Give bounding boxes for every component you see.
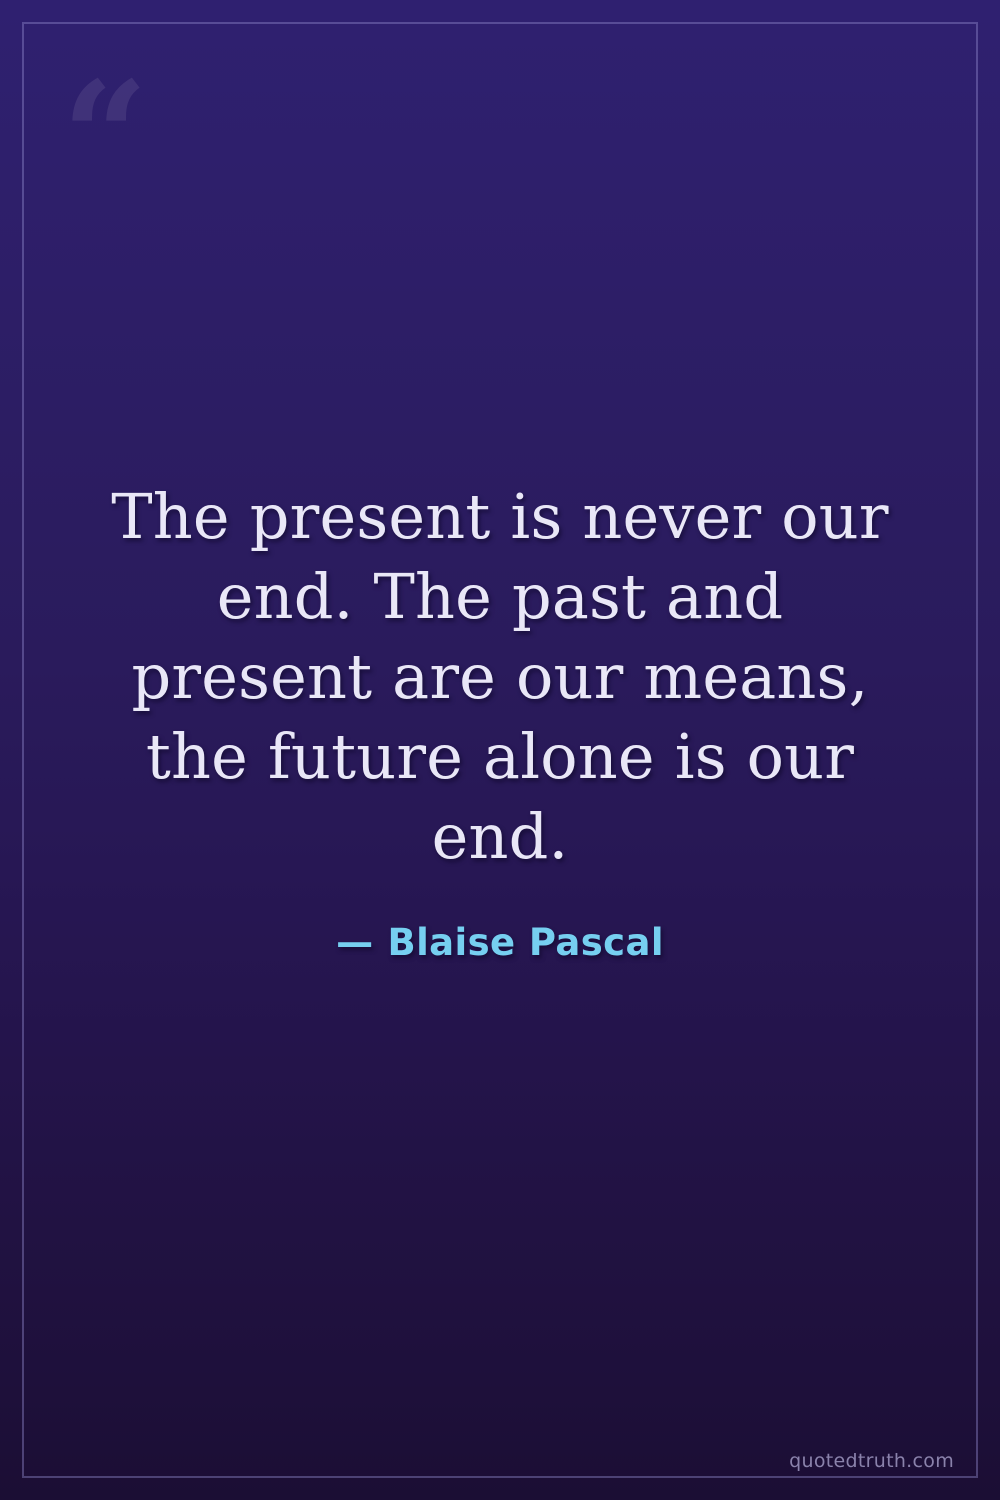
author-name: Blaise Pascal (387, 921, 663, 964)
quote-attribution: —Blaise Pascal (336, 921, 664, 964)
quote-content: The present is never our end. The past a… (0, 0, 1000, 1500)
quote-text: The present is never our end. The past a… (104, 477, 896, 877)
em-dash-icon: — (336, 921, 373, 964)
quote-card: “ The present is never our end. The past… (0, 0, 1000, 1500)
site-watermark: quotedtruth.com (789, 1450, 954, 1472)
